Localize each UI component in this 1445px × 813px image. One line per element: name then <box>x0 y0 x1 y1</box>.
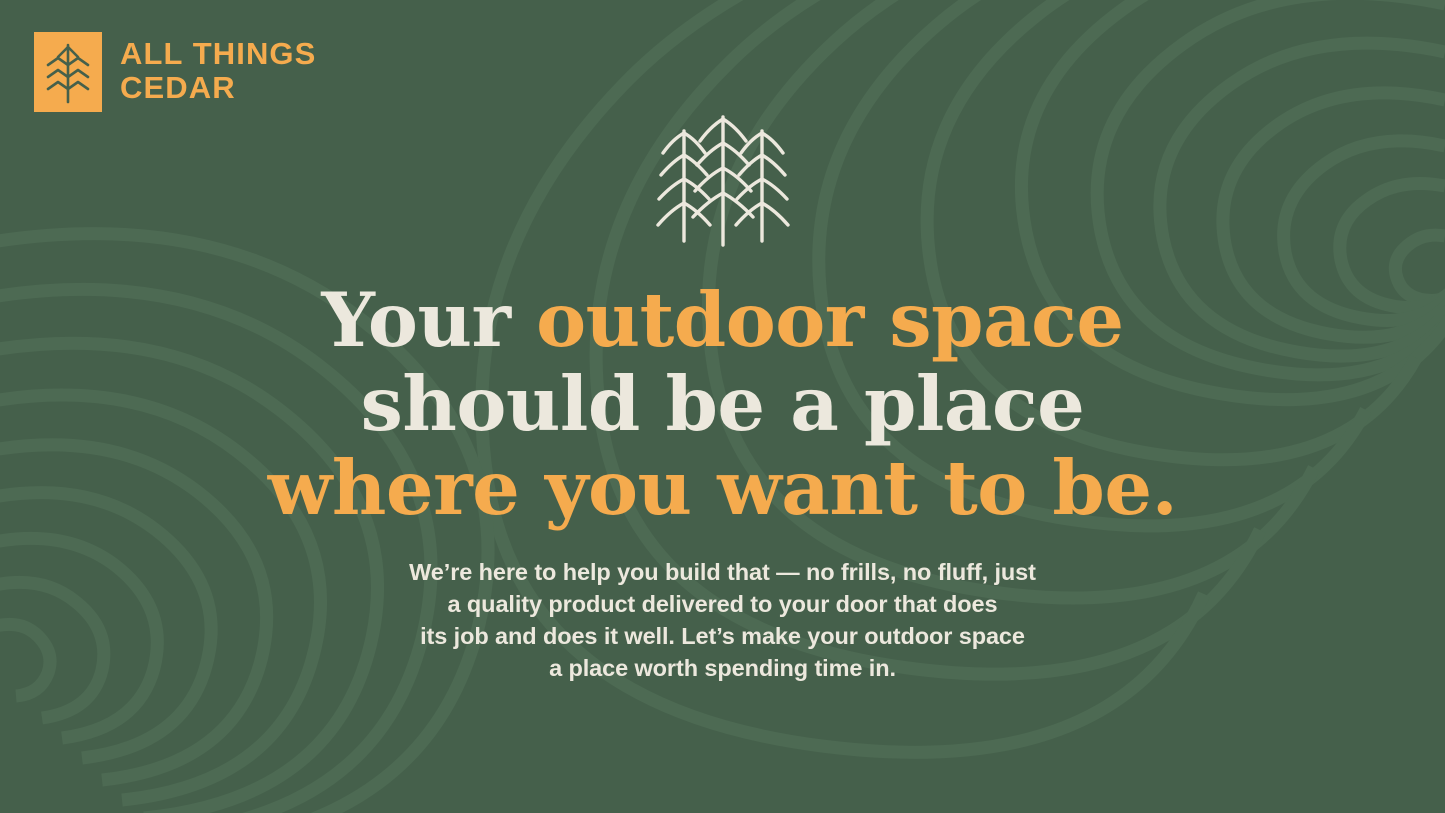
body-copy-line-1: We’re here to help you build that — no f… <box>0 556 1445 588</box>
three-pine-trees-icon <box>655 113 791 249</box>
headline: Your outdoor space should be a place whe… <box>0 278 1445 530</box>
body-copy-line-2: a quality product delivered to your door… <box>0 588 1445 620</box>
headline-line-1: Your outdoor space <box>0 278 1445 362</box>
brand-wordmark-line-1: ALL THINGS <box>120 37 316 71</box>
promo-banner: ALL THINGS CEDAR <box>0 0 1445 813</box>
body-copy-line-3: its job and does it well. Let’s make you… <box>0 620 1445 652</box>
headline-line-2: should be a place <box>0 362 1445 446</box>
headline-line-1-cream: Your <box>321 276 536 364</box>
headline-line-1-accent: outdoor space <box>536 276 1123 364</box>
brand-wordmark-line-2: CEDAR <box>120 71 316 105</box>
brand-wordmark: ALL THINGS CEDAR <box>120 32 316 105</box>
brand-logo[interactable]: ALL THINGS CEDAR <box>34 32 316 112</box>
headline-line-3: where you want to be. <box>0 446 1445 530</box>
pine-tree-icon <box>34 32 102 112</box>
body-copy: We’re here to help you build that — no f… <box>0 556 1445 684</box>
body-copy-line-4: a place worth spending time in. <box>0 652 1445 684</box>
